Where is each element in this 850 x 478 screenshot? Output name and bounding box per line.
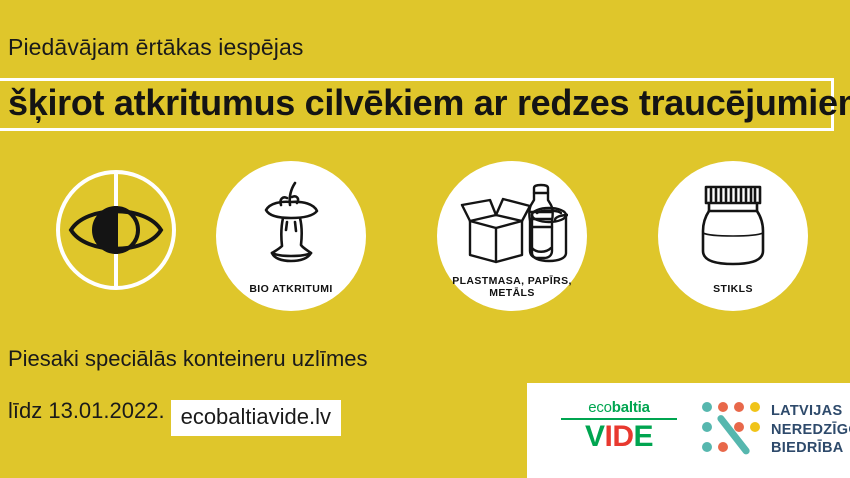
waste-category-row: BIO ATKRITUMI xyxy=(0,155,850,310)
badge-caption-glass: STIKLS xyxy=(658,283,808,295)
logo-lnb-wordmark: LATVIJAS NEREDZĪGO BIEDRĪBA xyxy=(771,402,850,458)
braille-dot xyxy=(718,442,728,452)
website-link[interactable]: ecobaltiavide.lv xyxy=(171,400,341,436)
badge-glass: STIKLS xyxy=(658,161,808,311)
eye-icon xyxy=(53,167,179,293)
cta-deadline: līdz 13.01.2022. xyxy=(8,400,165,422)
braille-dot xyxy=(734,422,744,432)
logo-eco-word: eco xyxy=(588,399,612,416)
page-title: šķirot atkritumus cilvēkiem ar redzes tr… xyxy=(8,85,850,121)
logo-panel: ecobaltia VIDE LATVIJAS xyxy=(527,383,850,478)
logo-vide-letter-d: D xyxy=(612,420,633,453)
logo-lnb-line-3: BIEDRĪBA xyxy=(771,439,850,458)
eyebrow-text: Piedāvājam ērtākas iespējas xyxy=(8,36,303,59)
cta-line-1: Piesaki speciālās konteineru uzlīmes xyxy=(8,348,368,370)
logo-eco-baltia-vide: ecobaltia VIDE xyxy=(559,400,679,452)
apple-core-icon xyxy=(243,175,339,271)
caption-line-2: METĀLS xyxy=(489,287,535,299)
badge-bio-waste: BIO ATKRITUMI xyxy=(216,161,366,311)
logo-vide-letter-e: E xyxy=(634,420,654,453)
logo-eco-baltia-wordmark: ecobaltia xyxy=(559,400,679,415)
braille-dot xyxy=(718,402,728,412)
cta-line-2: līdz 13.01.2022. ecobaltiavide.lv xyxy=(8,394,341,430)
badge-plastic-paper-metal: PLASTMASA, PAPĪRS, METĀLS xyxy=(437,161,587,311)
braille-dot xyxy=(750,402,760,412)
caption-line-1: PLASTMASA, PAPĪRS, xyxy=(452,275,572,287)
braille-dot xyxy=(702,402,712,412)
logo-vide-wordmark: VIDE xyxy=(559,422,679,452)
poster-canvas: Piedāvājam ērtākas iespējas šķirot atkri… xyxy=(0,0,850,478)
badge-caption-plastic-paper-metal: PLASTMASA, PAPĪRS, METĀLS xyxy=(437,275,587,299)
logo-vide-letter-v: V xyxy=(585,420,605,453)
logo-lnb-line-1: LATVIJAS xyxy=(771,402,850,421)
badge-low-vision xyxy=(53,167,179,293)
braille-dot xyxy=(734,402,744,412)
glass-jar-icon xyxy=(691,175,775,271)
braille-dot xyxy=(702,442,712,452)
braille-dot xyxy=(702,422,712,432)
logo-latvijas-neredzigo-biedriba: LATVIJAS NEREDZĪGO BIEDRĪBA xyxy=(702,402,850,458)
aluminium-can-icon xyxy=(527,205,571,263)
braille-dots-icon xyxy=(702,402,762,458)
logo-lnb-line-2: NEREDZĪGO xyxy=(771,421,850,440)
braille-dot xyxy=(750,422,760,432)
badge-caption-bio: BIO ATKRITUMI xyxy=(216,283,366,295)
logo-baltia-word: baltia xyxy=(612,399,650,416)
